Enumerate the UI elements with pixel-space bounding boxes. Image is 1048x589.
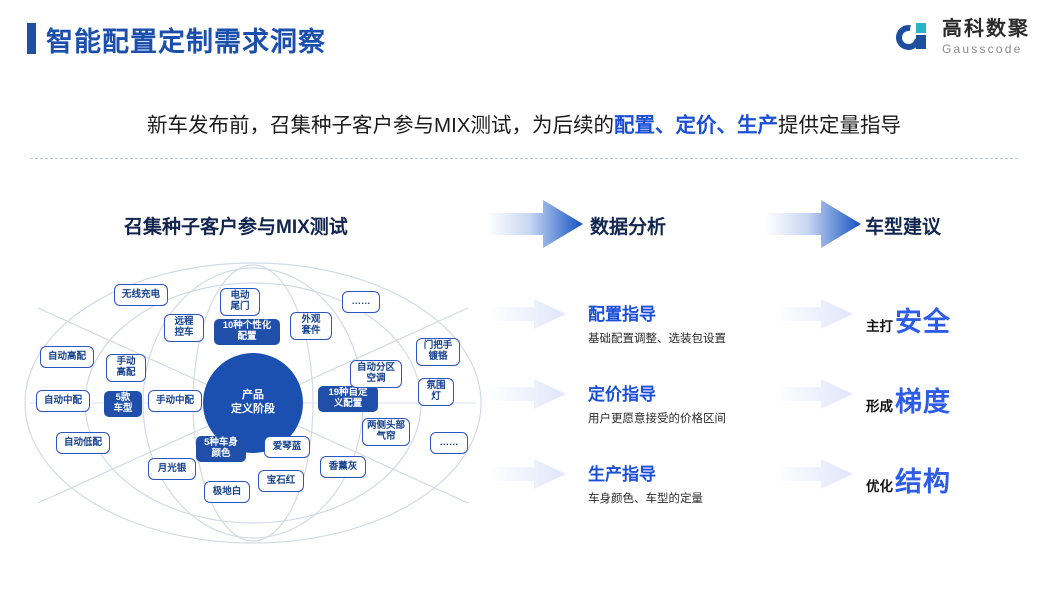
badge-custom-line2: 义配置 — [334, 398, 363, 409]
mindmap-leaf-aegean-blue[interactable]: 爱琴蓝 — [264, 436, 310, 458]
analysis-pricing-desc: 用户更愿意接受的价格区间 — [588, 410, 726, 426]
leaf-side-curtain-line2: 气帘 — [376, 431, 395, 442]
flow-arrow-1-icon — [487, 200, 583, 248]
leaf-manual-high-line1: 手动 — [116, 356, 135, 367]
logo-square-teal — [916, 23, 926, 33]
mindmap-leaf-remote-control[interactable]: 远程控车 — [164, 314, 204, 342]
mindmap-leaf-auto-mid[interactable]: 自动中配 — [36, 390, 90, 412]
advice-item-structure[interactable]: 优化 结构 — [866, 460, 951, 499]
leaf-remote-control-line2: 控车 — [174, 327, 193, 338]
leaf-appearance-kit-line1: 外观 — [301, 314, 320, 325]
analysis-production-title: 生产指导 — [588, 460, 703, 485]
logo-text: 高科数聚 Gausscode — [942, 19, 1030, 55]
badge-custom-line1: 19种自定 — [328, 387, 367, 398]
logo-square-navy — [916, 35, 926, 49]
subtitle-part2: 提供定量指导 — [778, 114, 901, 137]
row-arrow-pricing-icon — [488, 379, 566, 409]
leaf-ambient-light-line2: 灯 — [431, 391, 441, 402]
mindmap-leaf-power-tailgate[interactable]: 电动尾门 — [220, 288, 260, 316]
analysis-configuration-title: 配置指导 — [588, 300, 726, 325]
page-header: 智能配置定制需求洞察 高科数聚 Gausscode — [0, 0, 1048, 78]
mindmap-leaf-ambient-light[interactable]: 氛围灯 — [418, 378, 454, 406]
mindmap-leaf-moonlight-silver[interactable]: 月光银 — [148, 458, 196, 480]
mindmap-leaf-manual-mid[interactable]: 手动中配 — [148, 390, 202, 412]
mindmap-badge-colors[interactable]: 5种车身颜色 — [196, 436, 246, 462]
mindmap-leaf-door-handle-chrome[interactable]: 门把手镀铬 — [416, 338, 460, 366]
leaf-power-tailgate-line2: 尾门 — [230, 301, 249, 312]
analysis-item-configuration[interactable]: 配置指导 基础配置调整、选装包设置 — [588, 300, 726, 346]
center-line1: 产品 — [242, 389, 264, 401]
badge-models-line1: 5款 — [116, 392, 131, 403]
analysis-configuration-desc: 基础配置调整、选装包设置 — [588, 330, 726, 346]
badge-colors-line2: 颜色 — [211, 448, 230, 459]
analysis-item-pricing[interactable]: 定价指导 用户更愿意接受的价格区间 — [588, 380, 726, 426]
mindmap-diagram: 产品定义阶段 10种个性化配置 19种自定义配置 5款车型 5种车身颜色 无线充… — [18, 258, 488, 548]
subtitle-highlight: 配置、定价、生产 — [614, 114, 778, 137]
center-line2: 定义阶段 — [231, 403, 275, 415]
page-title: 智能配置定制需求洞察 — [46, 20, 326, 59]
advice-gradient-prefix: 形成 — [866, 395, 893, 415]
mindmap-leaf-lavender-grey[interactable]: 香薰灰 — [320, 456, 366, 478]
leaf-manual-high-line2: 高配 — [116, 367, 135, 378]
row-arrow-structure-icon — [775, 459, 853, 489]
advice-structure-keyword: 结构 — [895, 460, 951, 499]
subtitle-part1: 新车发布前，召集种子客户参与MIX测试，为后续的 — [147, 114, 614, 137]
mindmap-leaf-ellipsis-right[interactable]: …… — [430, 432, 468, 454]
badge-personalization-line1: 10种个性化 — [223, 320, 272, 331]
advice-safety-keyword: 安全 — [895, 300, 951, 339]
leaf-door-handle-line1: 门把手 — [424, 340, 453, 351]
leaf-ambient-light-line1: 氛围 — [426, 380, 445, 391]
mindmap-leaf-manual-high[interactable]: 手动高配 — [106, 354, 146, 382]
row-arrow-safety-icon — [775, 299, 853, 329]
analysis-pricing-title: 定价指导 — [588, 380, 726, 405]
analysis-production-desc: 车身颜色、车型的定量 — [588, 490, 703, 506]
row-arrow-production-icon — [488, 459, 566, 489]
leaf-power-tailgate-line1: 电动 — [230, 290, 249, 301]
leaf-door-handle-line2: 镀铬 — [428, 351, 447, 362]
subtitle: 新车发布前，召集种子客户参与MIX测试，为后续的配置、定价、生产提供定量指导 — [0, 108, 1048, 138]
advice-safety-prefix: 主打 — [866, 315, 893, 335]
column-header-analysis: 数据分析 — [590, 212, 666, 239]
mindmap-leaf-appearance-kit[interactable]: 外观套件 — [290, 312, 332, 340]
analysis-item-production[interactable]: 生产指导 车身颜色、车型的定量 — [588, 460, 703, 506]
mindmap-leaf-polar-white[interactable]: 极地白 — [204, 481, 250, 503]
advice-structure-prefix: 优化 — [866, 475, 893, 495]
logo-name-en: Gausscode — [942, 43, 1030, 55]
gausscode-logo-icon — [896, 20, 934, 54]
brand-logo: 高科数聚 Gausscode — [896, 19, 1030, 55]
leaf-side-curtain-line1: 两侧头部 — [367, 420, 405, 431]
badge-colors-line1: 5种车身 — [204, 437, 238, 448]
leaf-appearance-kit-line2: 套件 — [301, 325, 320, 336]
title-accent-bar — [27, 23, 36, 54]
mindmap-leaf-dual-zone-ac[interactable]: 自动分区空调 — [350, 360, 402, 388]
mindmap-leaf-auto-high[interactable]: 自动高配 — [40, 346, 94, 368]
advice-item-safety[interactable]: 主打 安全 — [866, 300, 951, 339]
section-divider — [30, 158, 1018, 159]
advice-item-gradient[interactable]: 形成 梯度 — [866, 380, 951, 419]
mindmap-leaf-wireless-charging[interactable]: 无线充电 — [114, 284, 168, 306]
mindmap-badge-personalization[interactable]: 10种个性化配置 — [214, 319, 280, 345]
row-arrow-config-icon — [488, 299, 566, 329]
flow-arrow-2-icon — [765, 200, 861, 248]
badge-personalization-line2: 配置 — [237, 331, 256, 342]
mindmap-badge-custom[interactable]: 19种自定义配置 — [318, 386, 378, 412]
mindmap-badge-models[interactable]: 5款车型 — [104, 391, 142, 417]
badge-models-line2: 车型 — [113, 403, 132, 414]
row-arrow-gradient-icon — [775, 379, 853, 409]
mindmap-leaf-side-curtain-airbag[interactable]: 两侧头部气帘 — [362, 418, 410, 446]
leaf-dual-zone-ac-line1: 自动分区 — [357, 362, 395, 373]
logo-name-cn: 高科数聚 — [942, 19, 1030, 39]
mindmap-leaf-ellipsis-top[interactable]: …… — [342, 291, 380, 313]
advice-gradient-keyword: 梯度 — [895, 380, 951, 419]
leaf-remote-control-line1: 远程 — [174, 316, 193, 327]
leaf-dual-zone-ac-line2: 空调 — [366, 373, 385, 384]
column-header-collect: 召集种子客户参与MIX测试 — [124, 212, 348, 239]
mindmap-leaf-auto-low[interactable]: 自动低配 — [56, 432, 110, 454]
column-header-advice: 车型建议 — [865, 212, 941, 239]
mindmap-leaf-ruby-red[interactable]: 宝石红 — [258, 470, 304, 492]
